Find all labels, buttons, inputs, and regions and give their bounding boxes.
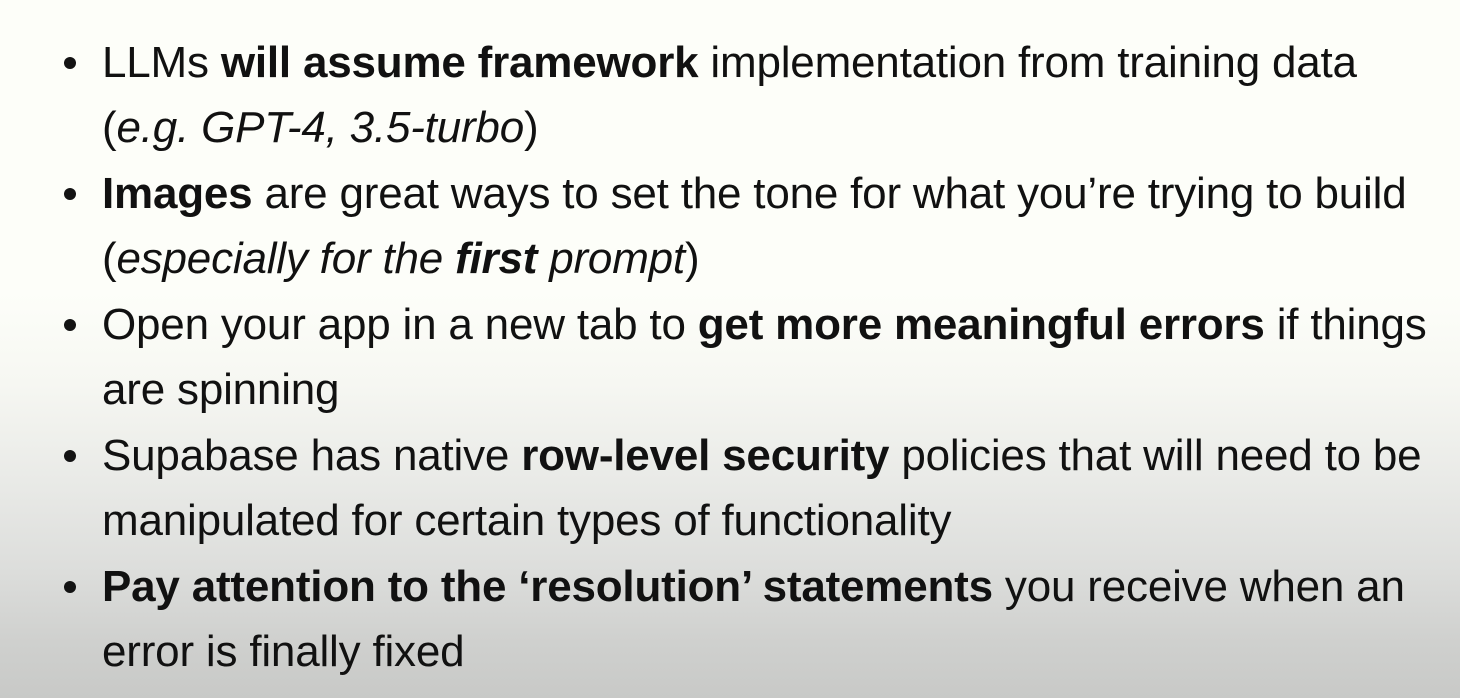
text-run-normal: ): [524, 103, 538, 152]
slide-canvas: LLMs will assume framework implementatio…: [0, 0, 1460, 698]
bullet-dot-icon: [64, 319, 76, 331]
bullet-dot-icon: [64, 450, 76, 462]
text-run-italic: especially for the: [116, 234, 455, 283]
bullet-list: LLMs will assume framework implementatio…: [0, 0, 1460, 685]
bullet-supabase-rls: Supabase has native row-level security p…: [56, 423, 1450, 553]
text-run-bold: row-level security: [521, 431, 889, 480]
bullet-open-new-tab: Open your app in a new tab to get more m…: [56, 292, 1450, 422]
bullet-llms-framework: LLMs will assume framework implementatio…: [56, 30, 1450, 160]
bullet-dot-icon: [64, 57, 76, 69]
text-run-bold: get more meaningful errors: [698, 300, 1265, 349]
text-run-bold: Pay attention to the ‘resolution’ statem…: [102, 562, 993, 611]
bullet-text: LLMs will assume framework implementatio…: [102, 38, 1357, 152]
text-run-bold: Images: [102, 169, 252, 218]
bullet-text: Pay attention to the ‘resolution’ statem…: [102, 562, 1405, 676]
bullet-text: Images are great ways to set the tone fo…: [102, 169, 1406, 283]
bullet-images-tone: Images are great ways to set the tone fo…: [56, 161, 1450, 291]
text-run-normal: Supabase has native: [102, 431, 521, 480]
text-run-normal: Open your app in a new tab to: [102, 300, 698, 349]
bullet-text: Open your app in a new tab to get more m…: [102, 300, 1427, 414]
bullet-text: Supabase has native row-level security p…: [102, 431, 1421, 545]
text-run-italic: e.g. GPT-4, 3.5-turbo: [116, 103, 524, 152]
bullet-dot-icon: [64, 581, 76, 593]
text-run-normal: LLMs: [102, 38, 221, 87]
text-run-normal: ): [685, 234, 699, 283]
bullet-dot-icon: [64, 188, 76, 200]
text-run-italic: prompt: [537, 234, 685, 283]
text-run-bold-italic: first: [455, 234, 537, 283]
bullet-resolution-statements: Pay attention to the ‘resolution’ statem…: [56, 554, 1450, 684]
text-run-bold: will assume framework: [221, 38, 699, 87]
